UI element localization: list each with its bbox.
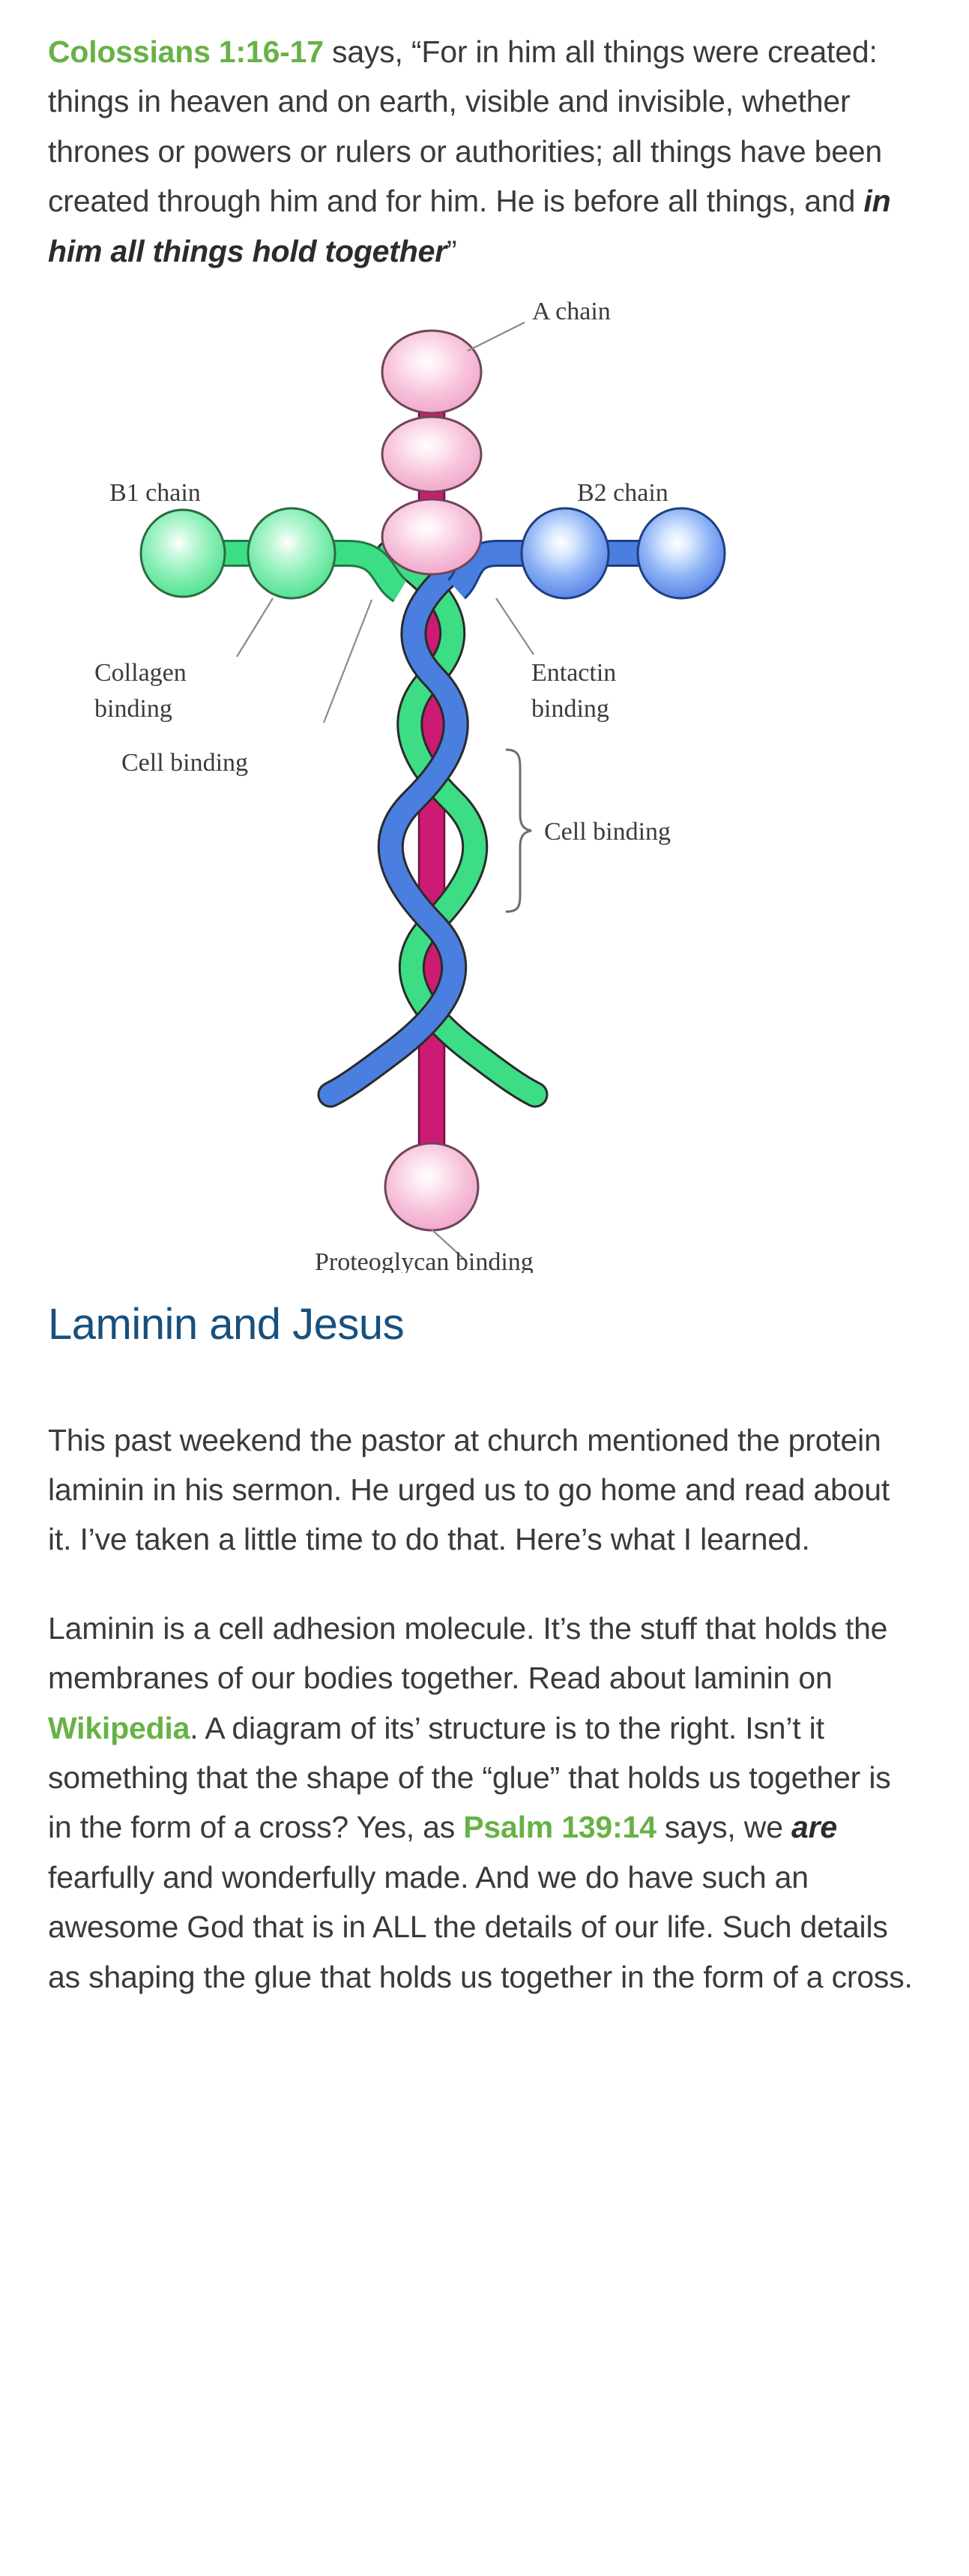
laminin-diagram-figure: A chain B1 chain B2 chain Collagen bindi… <box>48 276 921 1273</box>
laminin-text-part-4: fearfully and wonderfully made. And we d… <box>48 1860 913 1994</box>
label-proteoglycan-binding: Proteoglycan binding <box>315 1248 534 1273</box>
quote-closing-quotemark: ” <box>447 234 456 268</box>
colossians-quote-paragraph: Colossians 1:16-17 says, “For in him all… <box>48 0 921 276</box>
b2-chain-globule-outer <box>638 508 725 598</box>
label-collagen-binding-line1: Collagen <box>94 659 187 687</box>
label-b2-chain: B2 chain <box>577 479 668 507</box>
label-a-chain: A chain <box>532 298 611 325</box>
a-chain-globule-2 <box>382 417 481 492</box>
laminin-emphasis-are: are <box>791 1810 837 1844</box>
label-entactin-binding-line1: Entactin <box>531 659 616 687</box>
a-chain-globule-bottom <box>385 1143 478 1230</box>
label-cell-binding-bracket: Cell binding <box>544 818 671 846</box>
b2-chain-globule-inner <box>522 508 609 598</box>
label-collagen-binding-line2: binding <box>94 695 172 723</box>
intro-paragraph: This past weekend the pastor at church m… <box>48 1415 921 1565</box>
laminin-text-part-1: Laminin is a cell adhesion molecule. It’… <box>48 1611 887 1695</box>
laminin-structure-image: A chain B1 chain B2 chain Collagen bindi… <box>48 276 737 1273</box>
label-cell-binding-left: Cell binding <box>121 749 248 777</box>
b1-chain-arm <box>141 508 400 598</box>
b1-chain-globule-inner <box>248 508 335 598</box>
a-chain-globule-1 <box>382 331 481 413</box>
cell-binding-bracket <box>507 750 531 912</box>
colossians-reference-link[interactable]: Colossians 1:16-17 <box>48 34 324 69</box>
label-b1-chain: B1 chain <box>109 479 201 507</box>
article-page: Colossians 1:16-17 says, “For in him all… <box>0 0 969 2002</box>
wikipedia-link[interactable]: Wikipedia <box>48 1711 190 1745</box>
psalm-reference-link[interactable]: Psalm 139:14 <box>463 1810 656 1844</box>
figure-title-spacer <box>48 1273 921 1298</box>
section-heading-laminin-and-jesus: Laminin and Jesus <box>48 1298 921 1351</box>
title-body-spacer <box>48 1351 921 1415</box>
a-chain-globule-3 <box>382 499 481 574</box>
b1-chain-globule-outer <box>141 510 225 597</box>
b2-chain-arm <box>456 508 725 598</box>
label-entactin-binding-line2: binding <box>531 695 609 723</box>
laminin-explanation-paragraph: Laminin is a cell adhesion molecule. It’… <box>48 1604 921 2002</box>
laminin-text-part-3: says, we <box>656 1810 791 1844</box>
